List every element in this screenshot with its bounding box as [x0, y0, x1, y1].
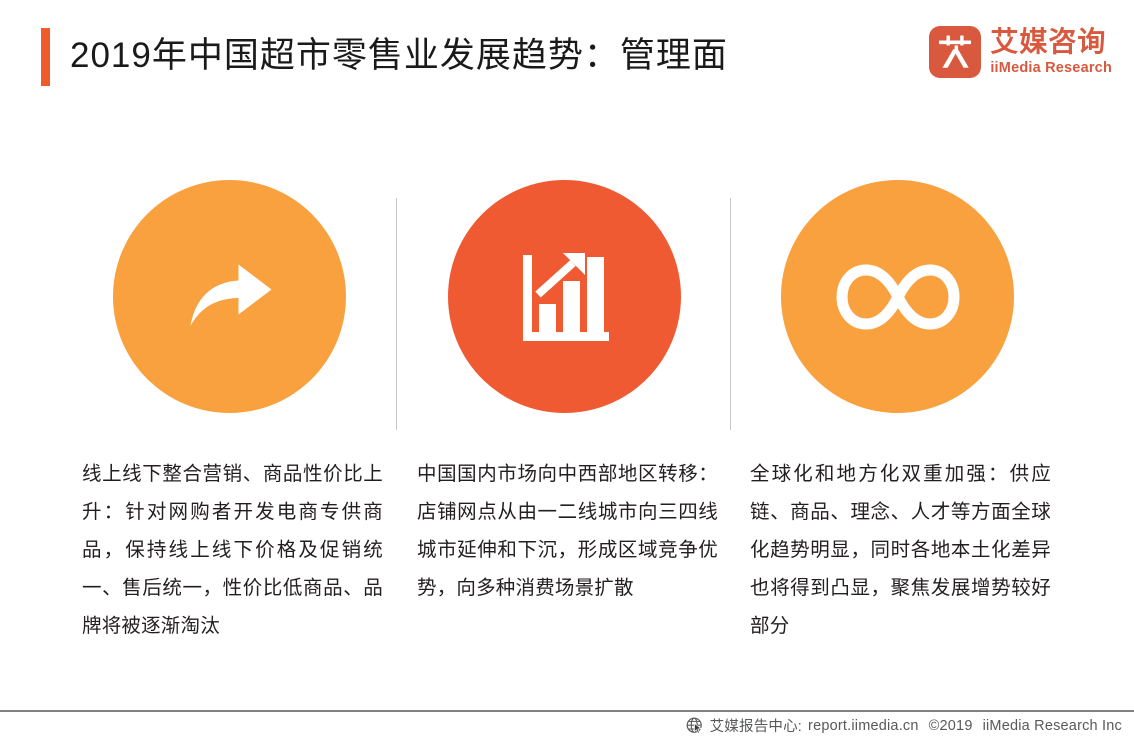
- share-arrow-icon: [113, 180, 346, 413]
- trend-column-1: 线上线下整合营销、商品性价比上升：针对网购者开发电商专供商品，保持线上线下价格及…: [82, 176, 382, 413]
- title-accent-bar: [41, 28, 50, 86]
- logo-wordmark: 艾媒咨询 iiMedia Research: [990, 28, 1112, 76]
- trend-column-3: 全球化和地方化双重加强：供应链、商品、理念、人才等方面全球化趋势明显，同时各地本…: [750, 176, 1050, 413]
- globe-cursor-icon: [686, 717, 704, 735]
- iimedia-logo-mark-icon: [929, 26, 981, 78]
- column-divider-2: [730, 198, 731, 430]
- infinity-icon: [781, 180, 1014, 413]
- brand-logo: 艾媒咨询 iiMedia Research: [929, 26, 1112, 78]
- page-title: 2019年中国超市零售业发展趋势：管理面: [70, 28, 728, 84]
- trend-column-2: 中国国内市场向中西部地区转移：店铺网点从由一二线城市向三四线城市延伸和下沉，形成…: [417, 176, 717, 413]
- trend-text-3: 全球化和地方化双重加强：供应链、商品、理念、人才等方面全球化趋势明显，同时各地本…: [750, 455, 1051, 645]
- trend-text-2: 中国国内市场向中西部地区转移：店铺网点从由一二线城市向三四线城市延伸和下沉，形成…: [417, 455, 718, 607]
- column-divider-1: [396, 198, 397, 430]
- trend-text-1: 线上线下整合营销、商品性价比上升：针对网购者开发电商专供商品，保持线上线下价格及…: [82, 455, 383, 645]
- footer-divider: [0, 710, 1134, 712]
- page-header: 2019年中国超市零售业发展趋势：管理面 艾媒咨询 iiMedia Resear…: [0, 0, 1134, 110]
- footer-label: 艾媒报告中心:: [710, 715, 802, 736]
- logo-name-en: iiMedia Research: [990, 61, 1112, 76]
- bar-chart-growth-icon: [448, 180, 681, 413]
- footer-org: iiMedia Research Inc: [983, 718, 1122, 734]
- content-columns: 线上线下整合营销、商品性价比上升：针对网购者开发电商专供商品，保持线上线下价格及…: [0, 176, 1134, 666]
- page-footer: 艾媒报告中心: report.iimedia.cn ©2019 iiMedia …: [686, 714, 1122, 737]
- footer-copyright: ©2019: [929, 718, 973, 734]
- footer-url[interactable]: report.iimedia.cn: [808, 718, 919, 734]
- logo-name-cn: 艾媒咨询: [990, 28, 1112, 56]
